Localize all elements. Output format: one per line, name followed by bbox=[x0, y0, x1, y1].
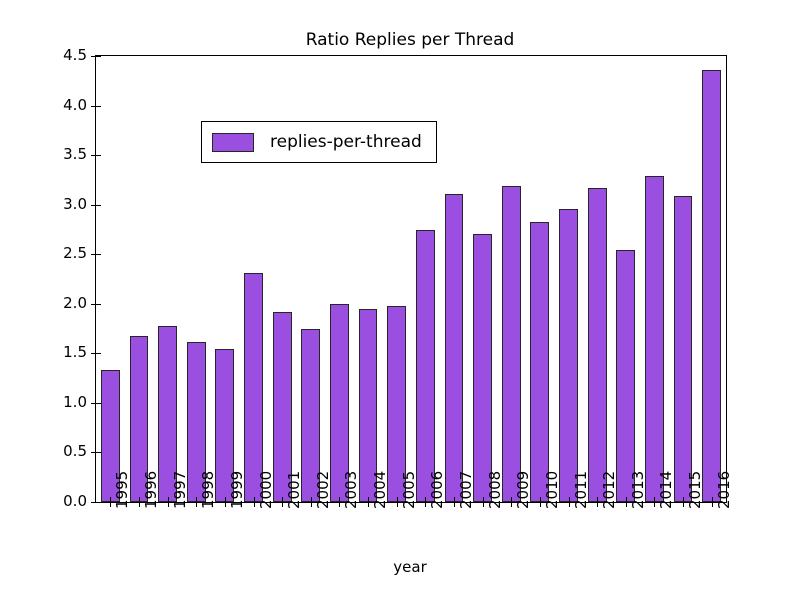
x-tick-mark bbox=[168, 502, 169, 507]
x-tick-mark-inner bbox=[110, 497, 111, 502]
x-tick-label-1999: 1999 bbox=[230, 471, 245, 509]
bar-2007 bbox=[445, 194, 464, 502]
y-tick-mark-inner bbox=[96, 403, 101, 404]
x-tick-mark-inner bbox=[282, 497, 283, 502]
x-tick-mark bbox=[597, 502, 598, 507]
y-tick-mark-inner bbox=[96, 304, 101, 305]
x-tick-mark-inner bbox=[712, 497, 713, 502]
x-tick-label-2014: 2014 bbox=[659, 471, 674, 509]
y-tick-label: 0.5 bbox=[41, 444, 87, 458]
x-tick-mark bbox=[110, 502, 111, 507]
y-tick-mark-inner bbox=[96, 155, 101, 156]
x-tick-mark bbox=[425, 502, 426, 507]
x-tick-mark bbox=[540, 502, 541, 507]
bar-2016 bbox=[702, 70, 721, 502]
x-tick-mark bbox=[712, 502, 713, 507]
x-tick-mark-inner bbox=[683, 497, 684, 502]
x-tick-mark-inner bbox=[569, 497, 570, 502]
x-tick-mark-inner bbox=[339, 497, 340, 502]
x-tick-label-2011: 2011 bbox=[574, 471, 589, 509]
x-tick-mark bbox=[282, 502, 283, 507]
y-tick-label: 1.0 bbox=[41, 395, 87, 409]
bar-2012 bbox=[588, 188, 607, 502]
x-tick-mark-inner bbox=[597, 497, 598, 502]
x-tick-label-2013: 2013 bbox=[631, 471, 646, 509]
bar-2008 bbox=[473, 234, 492, 502]
x-tick-mark bbox=[196, 502, 197, 507]
y-tick-label: 1.5 bbox=[41, 345, 87, 359]
y-tick-label: 2.0 bbox=[41, 296, 87, 310]
y-tick-label: 3.5 bbox=[41, 147, 87, 161]
chart-figure: Ratio Replies per Thread replies-per-thr… bbox=[0, 0, 800, 600]
x-tick-label-2016: 2016 bbox=[717, 471, 732, 509]
x-tick-mark-inner bbox=[626, 497, 627, 502]
x-tick-mark bbox=[511, 502, 512, 507]
x-tick-mark-inner bbox=[511, 497, 512, 502]
legend-label: replies-per-thread bbox=[270, 133, 422, 151]
x-tick-mark-inner bbox=[168, 497, 169, 502]
x-tick-mark bbox=[225, 502, 226, 507]
bar-2014 bbox=[645, 176, 664, 502]
x-tick-label-2009: 2009 bbox=[516, 471, 531, 509]
x-tick-mark-inner bbox=[540, 497, 541, 502]
bar-2015 bbox=[674, 196, 693, 502]
bar-2011 bbox=[559, 209, 578, 502]
bar-2000 bbox=[244, 273, 263, 502]
bar-2010 bbox=[530, 222, 549, 502]
x-tick-mark-inner bbox=[425, 497, 426, 502]
x-tick-label-1996: 1996 bbox=[144, 471, 159, 509]
page-title: Ratio Replies per Thread bbox=[95, 30, 725, 50]
x-tick-mark-inner bbox=[311, 497, 312, 502]
x-axis-label: year bbox=[95, 558, 725, 576]
x-tick-label-2003: 2003 bbox=[344, 471, 359, 509]
x-tick-mark bbox=[397, 502, 398, 507]
x-tick-mark bbox=[311, 502, 312, 507]
y-tick-label: 2.5 bbox=[41, 246, 87, 260]
x-tick-mark-inner bbox=[139, 497, 140, 502]
x-tick-mark bbox=[339, 502, 340, 507]
x-tick-mark bbox=[254, 502, 255, 507]
plot-area: replies-per-thread bbox=[95, 55, 727, 503]
x-tick-label-2010: 2010 bbox=[545, 471, 560, 509]
x-tick-mark bbox=[683, 502, 684, 507]
x-tick-label-2007: 2007 bbox=[459, 471, 474, 509]
x-tick-label-2006: 2006 bbox=[430, 471, 445, 509]
x-tick-label-2008: 2008 bbox=[488, 471, 503, 509]
x-tick-mark-inner bbox=[368, 497, 369, 502]
x-tick-mark bbox=[654, 502, 655, 507]
x-tick-label-2002: 2002 bbox=[316, 471, 331, 509]
x-tick-mark-inner bbox=[654, 497, 655, 502]
x-tick-label-2012: 2012 bbox=[602, 471, 617, 509]
x-tick-mark-inner bbox=[225, 497, 226, 502]
x-tick-label-2005: 2005 bbox=[402, 471, 417, 509]
x-tick-label-2004: 2004 bbox=[373, 471, 388, 509]
x-tick-mark-inner bbox=[196, 497, 197, 502]
x-tick-label-2000: 2000 bbox=[259, 471, 274, 509]
x-tick-mark bbox=[454, 502, 455, 507]
x-tick-mark bbox=[626, 502, 627, 507]
y-tick-label: 4.0 bbox=[41, 98, 87, 112]
bar-2006 bbox=[416, 230, 435, 502]
x-tick-mark bbox=[368, 502, 369, 507]
y-tick-mark-inner bbox=[96, 205, 101, 206]
y-tick-mark-inner bbox=[96, 56, 101, 57]
y-tick-mark-inner bbox=[96, 502, 101, 503]
x-tick-mark bbox=[483, 502, 484, 507]
y-tick-label: 4.5 bbox=[41, 48, 87, 62]
y-tick-mark-inner bbox=[96, 452, 101, 453]
y-tick-label: 0.0 bbox=[41, 494, 87, 508]
x-tick-mark-inner bbox=[483, 497, 484, 502]
x-tick-mark-inner bbox=[454, 497, 455, 502]
x-tick-label-1997: 1997 bbox=[173, 471, 188, 509]
y-tick-mark-inner bbox=[96, 254, 101, 255]
bar-2009 bbox=[502, 186, 521, 502]
y-tick-label: 3.0 bbox=[41, 197, 87, 211]
x-tick-label-2001: 2001 bbox=[287, 471, 302, 509]
x-tick-mark bbox=[139, 502, 140, 507]
x-tick-label-1995: 1995 bbox=[115, 471, 130, 509]
y-tick-mark-inner bbox=[96, 353, 101, 354]
x-tick-mark-inner bbox=[254, 497, 255, 502]
legend: replies-per-thread bbox=[201, 121, 437, 163]
x-tick-label-2015: 2015 bbox=[688, 471, 703, 509]
x-tick-label-1998: 1998 bbox=[201, 471, 216, 509]
y-tick-mark-inner bbox=[96, 106, 101, 107]
x-tick-mark-inner bbox=[397, 497, 398, 502]
bar-2013 bbox=[616, 250, 635, 502]
legend-swatch-replies-per-thread bbox=[212, 133, 254, 152]
x-tick-mark bbox=[569, 502, 570, 507]
